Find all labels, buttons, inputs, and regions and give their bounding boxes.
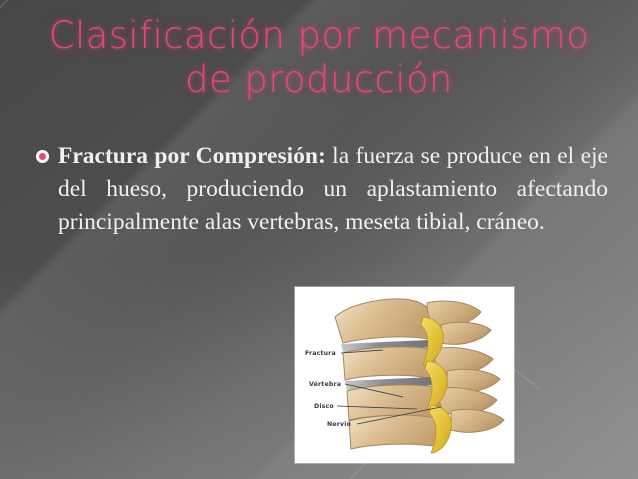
bullet-list-item: Fractura por Compresión: la fuerza se pr… [36, 140, 608, 239]
illustration-label-disco: Disco [314, 403, 334, 410]
vertebra-body-4 [349, 415, 443, 449]
target-ring-bullet-icon [36, 150, 49, 163]
bullet-paragraph: Fractura por Compresión: la fuerza se pr… [58, 140, 608, 239]
slide-body: Fractura por Compresión: la fuerza se pr… [36, 140, 608, 239]
illustration-label-nervio: Nervio [327, 421, 351, 428]
vertebrae-illustration-svg: Fractura Vértebra Disco Nervio [295, 287, 514, 463]
bullet-lead-text: Fractura por Compresión: [58, 143, 326, 169]
vertebrae-illustration: Fractura Vértebra Disco Nervio [295, 287, 514, 463]
vertebra-body-3 [347, 385, 441, 420]
illustration-label-fractura: Fractura [305, 350, 336, 357]
illustration-label-vertebra: Vértebra [309, 380, 341, 388]
presentation-slide: Clasificación por mecanismo de producció… [0, 0, 638, 479]
slide-title: Clasificación por mecanismo de producció… [0, 14, 638, 102]
